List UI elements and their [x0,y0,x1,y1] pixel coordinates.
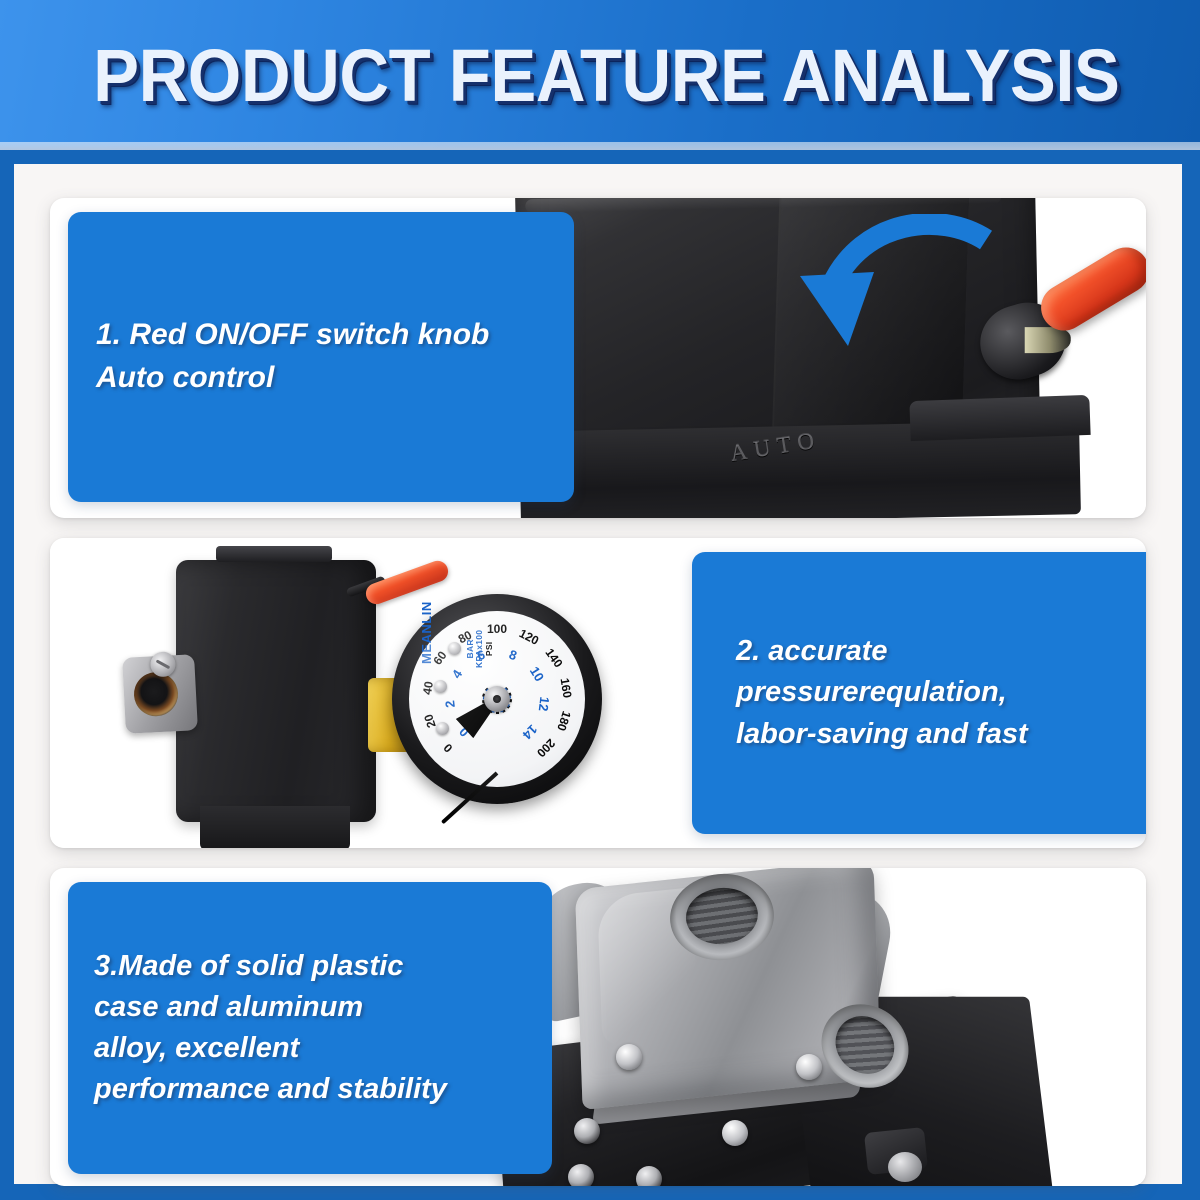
manifold-bolt-front [722,1120,748,1146]
case-bottom-foot [200,806,350,848]
callout-3-text: 3.Made of solid plastic case and aluminu… [68,946,447,1111]
feature-card-1: AUTO 1. Red ON/OFF switch knob Auto cont… [50,198,1146,518]
page-header: PRODUCT FEATURE ANALYSIS [0,0,1200,150]
base-bolt-1 [574,1118,600,1144]
gauge-face-screw-top [448,642,461,655]
base-bolt-2 [568,1164,594,1186]
gauge-unit-kpa: KPAx100 [475,630,484,668]
page-title: PRODUCT FEATURE ANALYSIS [80,33,1119,118]
red-onoff-knob [1033,239,1146,339]
terminal-nut [888,1152,922,1182]
feature-card-3: 3.Made of solid plastic case and aluminu… [50,868,1146,1186]
callout-3: 3.Made of solid plastic case and aluminu… [68,882,552,1174]
callout-2-text: 2. accurate pressurerequlation, labor-sa… [692,631,1028,755]
callout-1: 1. Red ON/OFF switch knob Auto control [68,212,574,502]
header-underline [0,142,1200,150]
case-top-clip [216,546,332,562]
photo-switch-gauge: 020406080100120140160180200 02468101214 … [50,538,710,848]
content-background: AUTO 1. Red ON/OFF switch knob Auto cont… [14,164,1182,1184]
gauge-brand-label: MEANLIN [419,601,434,664]
gauge-unit-labels: BAR KPAx100 PSI [466,630,494,668]
side-port-opening [133,671,179,717]
content-frame: AUTO 1. Red ON/OFF switch knob Auto cont… [0,150,1200,1200]
callout-2: 2. accurate pressurerequlation, labor-sa… [692,552,1146,834]
gauge-face-screw-mid [434,680,447,693]
plastic-case [176,560,376,822]
manifold-bolt-right [796,1054,822,1080]
callout-1-text: 1. Red ON/OFF switch knob Auto control [68,314,489,399]
curved-arrow-icon [790,214,1020,414]
gauge-face-screw-bottom [436,722,449,735]
aluminum-side-block [122,654,198,734]
manifold-bolt-left [616,1044,642,1070]
side-screw [150,651,176,677]
photo-switch-knob: AUTO [480,198,1146,518]
gauge-needle-hub [484,686,510,712]
photo-aluminum-manifold [470,868,1146,1186]
pressure-gauge: 020406080100120140160180200 02468101214 … [392,594,602,804]
base-bolt-3 [636,1166,662,1186]
feature-card-2: 020406080100120140160180200 02468101214 … [50,538,1146,848]
gauge-unit-psi: PSI [485,630,494,668]
